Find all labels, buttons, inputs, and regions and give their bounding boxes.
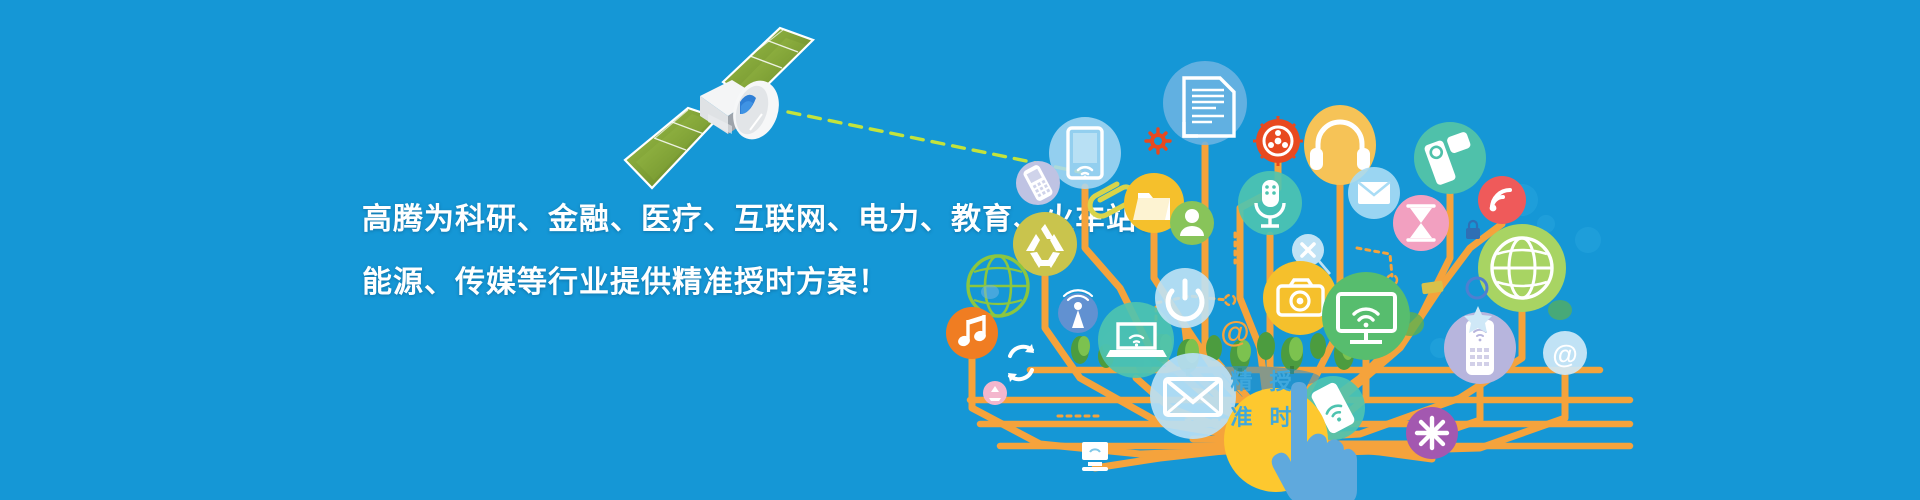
hourglass-icon[interactable] (1393, 195, 1449, 251)
globe-grid-icon[interactable] (1478, 224, 1566, 312)
envelope-large-icon[interactable] (1150, 353, 1236, 439)
sync-arrows-icon[interactable] (1008, 344, 1034, 382)
svg-text:@: @ (1220, 316, 1249, 349)
gear-red-icon[interactable] (1146, 129, 1170, 153)
microphone-icon[interactable] (1238, 171, 1302, 235)
rss-wifi-icon[interactable] (1478, 176, 1526, 224)
promo-banner: 高腾为科研、金融、医疗、互联网、电力、教育、火车站、 能源、传媒等行业提供精准授… (0, 0, 1920, 500)
svg-text:@: @ (1552, 339, 1577, 369)
monitor-wifi-icon[interactable] (1322, 272, 1410, 360)
mobile-phone-icon[interactable] (1016, 161, 1060, 205)
pointing-hand (1245, 380, 1365, 500)
asterisk-icon[interactable] (1406, 407, 1458, 459)
tablet-wifi-icon[interactable] (1049, 117, 1121, 189)
envelope-small-icon[interactable] (1348, 167, 1400, 219)
film-reel-icon[interactable] (1253, 116, 1303, 166)
solar-panel-lower (625, 108, 718, 188)
at-circle-icon[interactable]: @ (1543, 331, 1587, 375)
lock-icon[interactable] (1466, 221, 1480, 239)
globe-wire-icon[interactable] (968, 256, 1028, 316)
at-symbol-icon[interactable]: @ (1220, 316, 1249, 349)
camcorder-icon[interactable] (1414, 122, 1486, 194)
user-icon[interactable] (1170, 201, 1214, 245)
broadcast-tower-icon[interactable] (1058, 290, 1098, 333)
recycle-pink-icon[interactable] (983, 381, 1007, 405)
power-icon[interactable] (1155, 268, 1215, 328)
music-note-icon[interactable] (946, 307, 998, 359)
document-icon[interactable] (1163, 61, 1247, 145)
